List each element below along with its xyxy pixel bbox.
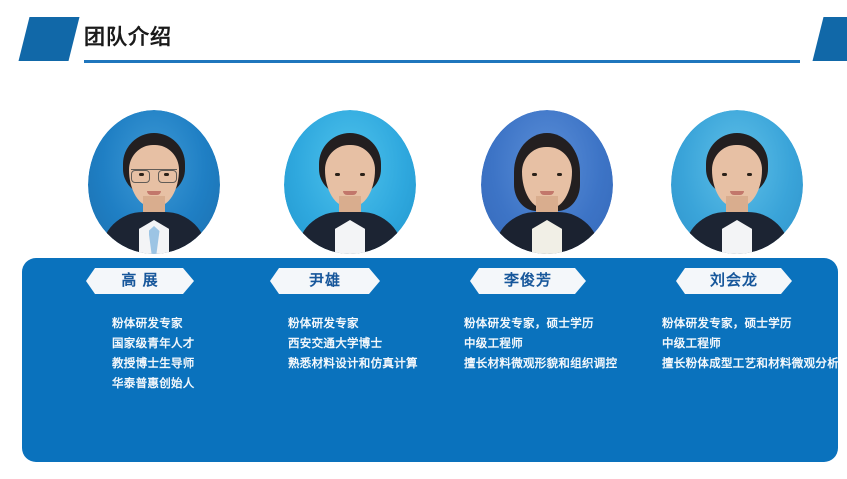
avatar-slot-1 (268, 104, 428, 260)
header-accent-right-icon (813, 17, 847, 61)
description-line: 粉体研发专家，硕士学历 (464, 314, 646, 334)
description-line: 国家级青年人才 (112, 334, 252, 354)
description-line: 教授博士生导师 (112, 354, 252, 374)
avatar-slot-0 (72, 104, 232, 260)
description-line: 中级工程师 (662, 334, 847, 354)
member-name: 高 展 (121, 268, 158, 294)
glasses-icon (131, 169, 177, 181)
avatar-slot-3 (655, 104, 815, 260)
page-title: 团队介绍 (84, 24, 172, 52)
member-description: 粉体研发专家，硕士学历 中级工程师 擅长材料微观形貌和组织调控 (464, 314, 646, 374)
member-description: 粉体研发专家 国家级青年人才 教授博士生导师 华泰普惠创始人 (112, 314, 252, 394)
description-line: 粉体研发专家 (112, 314, 252, 334)
member-name: 李俊芳 (504, 268, 552, 294)
eye-left (335, 173, 340, 176)
portrait-photo-male-glasses-icon (88, 110, 220, 254)
avatar-slot-2 (465, 104, 625, 260)
avatar (481, 110, 613, 254)
header-divider (84, 60, 800, 63)
eye-left (722, 173, 727, 176)
slide-root: 团队介绍 (0, 0, 847, 479)
header-accent-left-icon (19, 17, 80, 61)
slide-header: 团队介绍 (0, 0, 847, 80)
member-card: 李俊芳 粉体研发专家，硕士学历 中级工程师 擅长材料微观形貌和组织调控 (436, 258, 636, 462)
description-line: 华泰普惠创始人 (112, 374, 252, 394)
eye-left (139, 173, 144, 176)
avatar (671, 110, 803, 254)
member-description: 粉体研发专家，硕士学历 中级工程师 擅长粉体成型工艺和材料微观分析 (662, 314, 847, 374)
name-badge: 李俊芳 (470, 268, 586, 294)
member-name: 尹雄 (309, 268, 341, 294)
member-card: 刘会龙 粉体研发专家，硕士学历 中级工程师 擅长粉体成型工艺和材料微观分析 (636, 258, 838, 462)
eye-left (532, 173, 537, 176)
portrait-photo-female-icon (481, 110, 613, 254)
eye-right (360, 173, 365, 176)
member-card: 尹雄 粉体研发专家 西安交通大学博士 熟悉材料设计和仿真计算 (240, 258, 436, 462)
avatar (88, 110, 220, 254)
member-name: 刘会龙 (710, 268, 758, 294)
portrait-photo-male-icon (671, 110, 803, 254)
mouth-shape (147, 191, 161, 195)
eye-right (747, 173, 752, 176)
description-line: 粉体研发专家，硕士学历 (662, 314, 847, 334)
avatar-row (0, 104, 847, 264)
name-badge: 尹雄 (270, 268, 380, 294)
description-line: 中级工程师 (464, 334, 646, 354)
team-panel: 高 展 粉体研发专家 国家级青年人才 教授博士生导师 华泰普惠创始人 尹雄 粉体… (22, 258, 838, 462)
eye-right (557, 173, 562, 176)
avatar (284, 110, 416, 254)
description-line: 擅长粉体成型工艺和材料微观分析 (662, 354, 847, 374)
portrait-photo-male-icon (284, 110, 416, 254)
eye-right (164, 173, 169, 176)
mouth-shape (343, 191, 357, 195)
member-list: 高 展 粉体研发专家 国家级青年人才 教授博士生导师 华泰普惠创始人 尹雄 粉体… (22, 258, 838, 462)
name-badge: 高 展 (86, 268, 194, 294)
member-card: 高 展 粉体研发专家 国家级青年人才 教授博士生导师 华泰普惠创始人 (50, 258, 240, 462)
mouth-shape (730, 191, 744, 195)
description-line: 擅长材料微观形貌和组织调控 (464, 354, 646, 374)
mouth-shape (540, 191, 554, 195)
name-badge: 刘会龙 (676, 268, 792, 294)
